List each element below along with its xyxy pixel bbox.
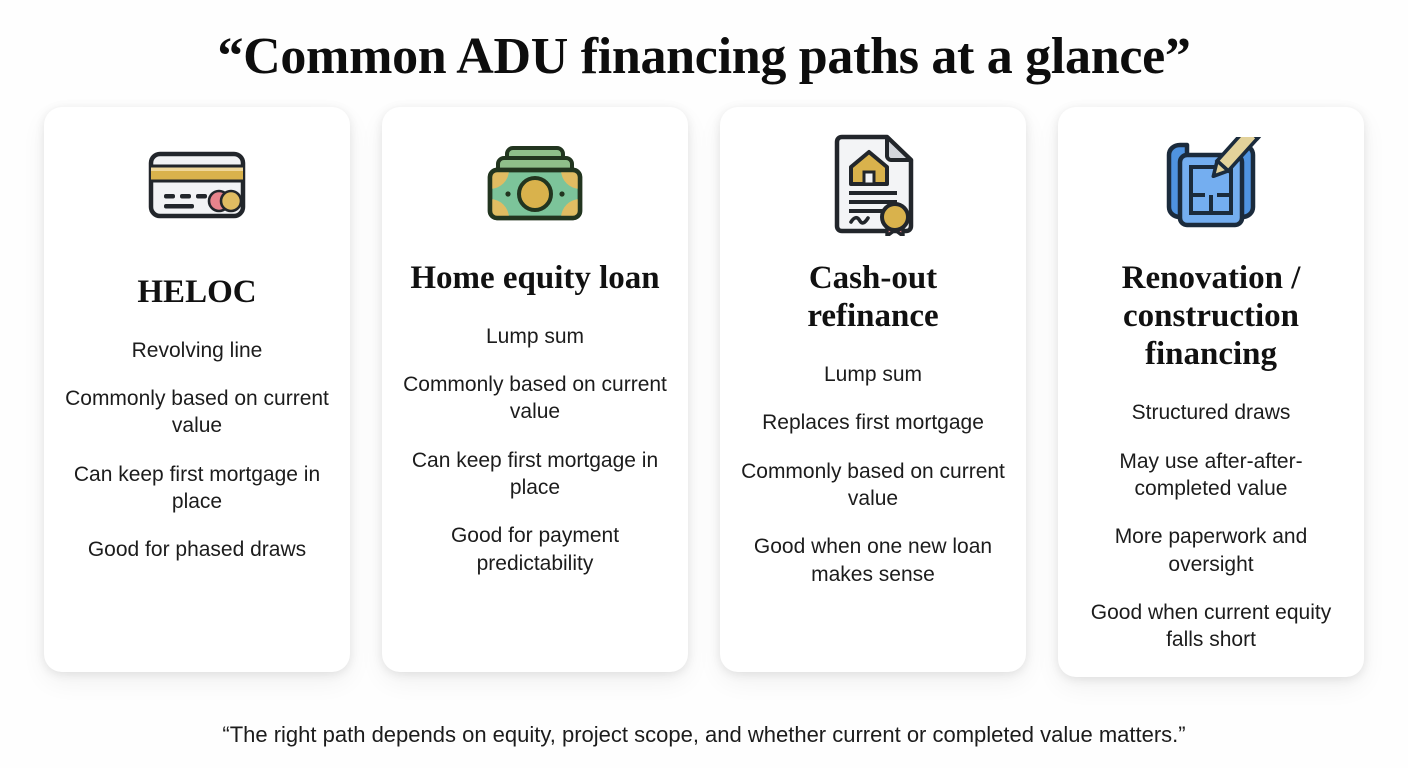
cash-stack-icon <box>479 133 591 237</box>
infographic-page: “Common ADU financing paths at a glance” <box>0 0 1408 768</box>
card-bullets: Lump sum Replaces first mortgage Commonl… <box>738 361 1008 588</box>
bullet-item: Commonly based on current value <box>401 371 669 426</box>
credit-card-icon <box>141 133 253 237</box>
bullet-item: More paperwork and oversight <box>1077 523 1345 578</box>
bullet-item: Good when one new loan makes sense <box>739 533 1007 588</box>
bullet-item: Good for phased draws <box>88 536 306 563</box>
card-heloc[interactable]: HELOC Revolving line Commonly based on c… <box>44 107 350 672</box>
footer-caption: “The right path depends on equity, proje… <box>0 722 1408 748</box>
card-bullets: Revolving line Commonly based on current… <box>62 337 332 564</box>
page-title: “Common ADU financing paths at a glance” <box>0 30 1408 85</box>
card-bullets: Lump sum Commonly based on current value… <box>400 323 670 577</box>
card-cash-out-refinance[interactable]: Cash-out refinance Lump sum Replaces fir… <box>720 107 1026 672</box>
card-renovation-construction-financing[interactable]: Renovation / construction financing Stru… <box>1058 107 1364 678</box>
bullet-item: Lump sum <box>486 323 584 350</box>
card-title: Cash-out refinance <box>748 259 998 336</box>
bullet-item: Good for payment predictability <box>401 522 669 577</box>
bullet-item: Lump sum <box>824 361 922 388</box>
card-bullets: Structured draws May use after-after-com… <box>1076 399 1346 653</box>
title-section: “Common ADU financing paths at a glance” <box>0 0 1408 85</box>
blueprint-pencil-icon <box>1155 133 1267 237</box>
bullet-item: Commonly based on current value <box>739 458 1007 513</box>
card-title: Renovation / construction financing <box>1086 259 1336 374</box>
bullet-item: Structured draws <box>1132 399 1291 426</box>
card-title: Home equity loan <box>410 259 659 297</box>
bullet-item: Revolving line <box>132 337 263 364</box>
bullet-item: Can keep first mortgage in place <box>401 447 669 502</box>
cards-row: HELOC Revolving line Commonly based on c… <box>0 107 1408 678</box>
bullet-item: Can keep first mortgage in place <box>63 461 331 516</box>
bullet-item: May use after-after-completed value <box>1077 448 1345 503</box>
contract-document-icon <box>817 133 929 237</box>
footer-section: “The right path depends on equity, proje… <box>0 722 1408 768</box>
card-home-equity-loan[interactable]: Home equity loan Lump sum Commonly based… <box>382 107 688 672</box>
bullet-item: Commonly based on current value <box>63 385 331 440</box>
card-title: HELOC <box>137 273 256 311</box>
bullet-item: Good when current equity falls short <box>1077 599 1345 654</box>
bullet-item: Replaces first mortgage <box>762 409 984 436</box>
